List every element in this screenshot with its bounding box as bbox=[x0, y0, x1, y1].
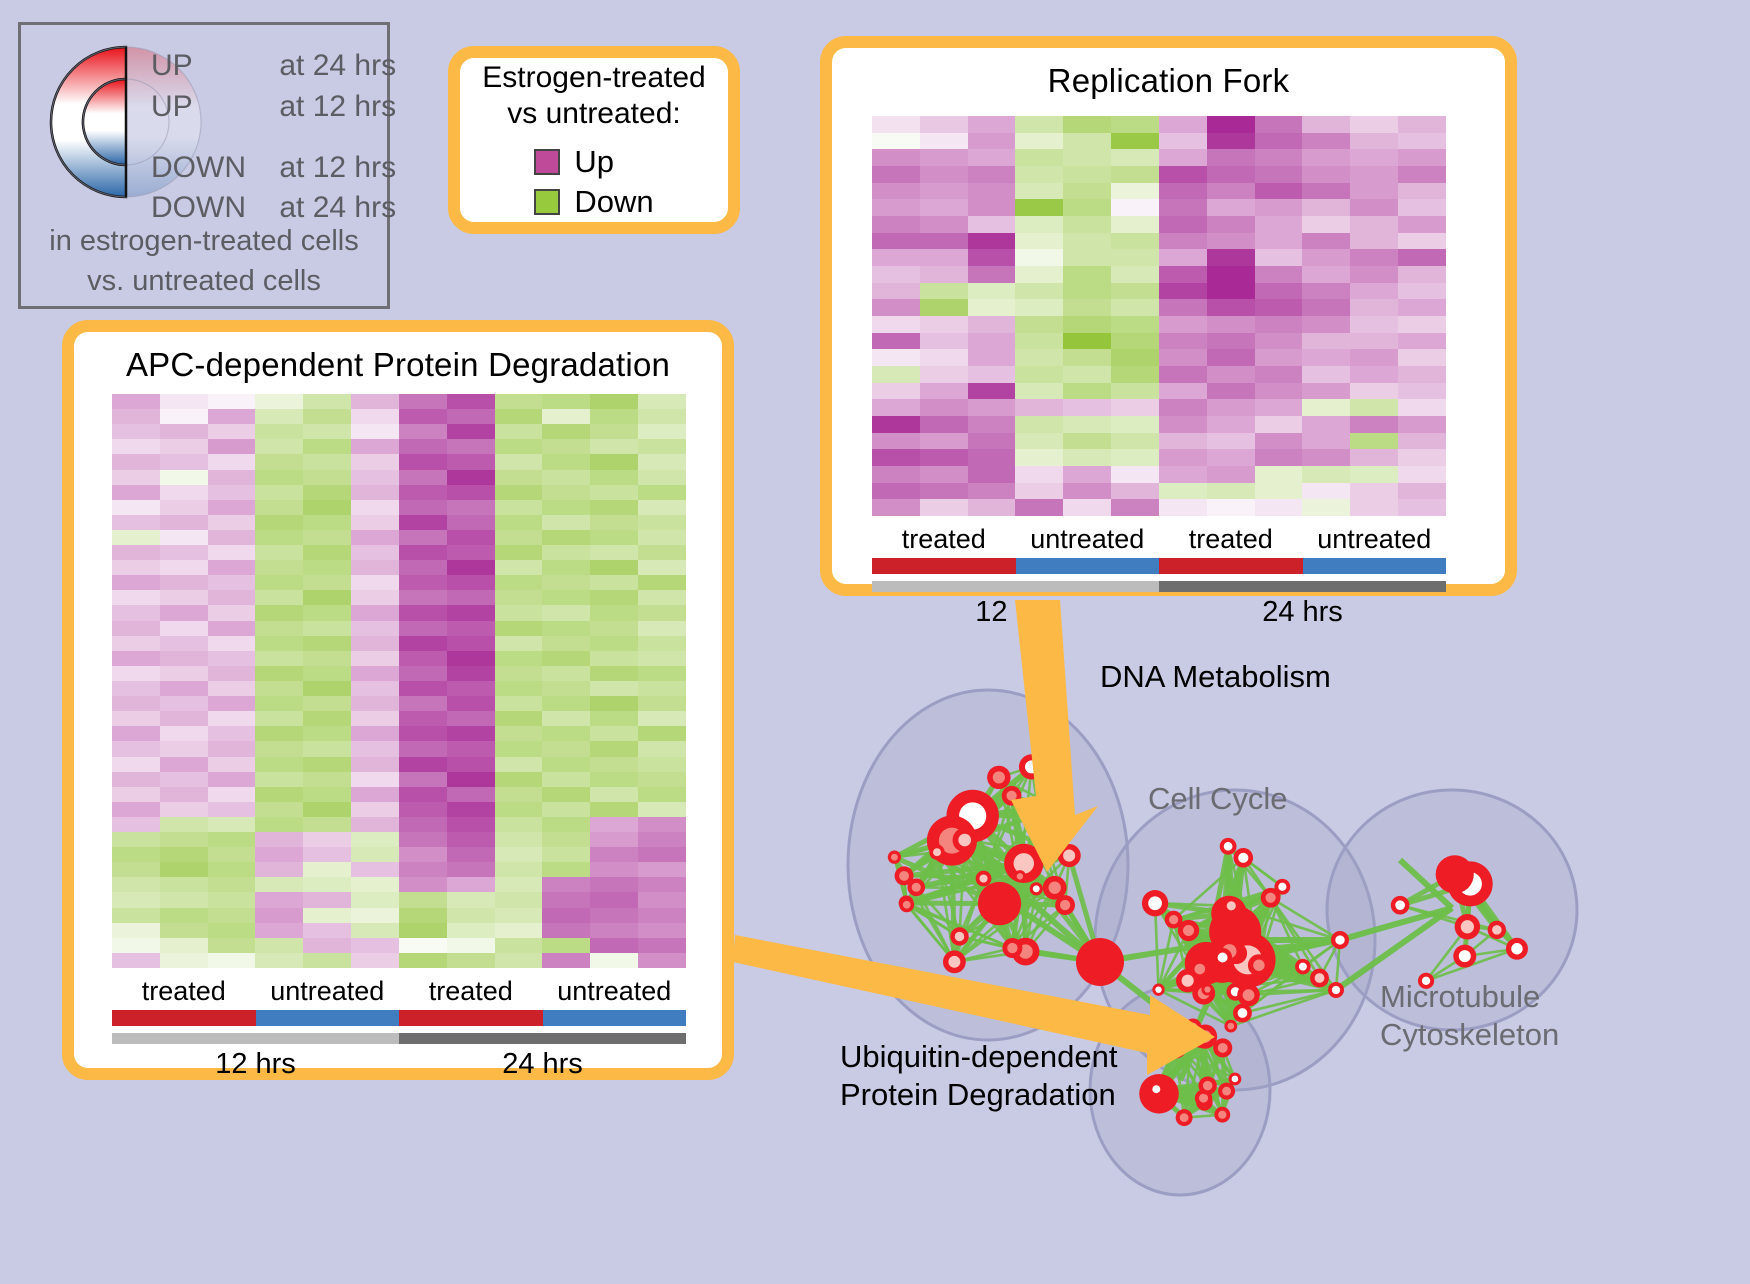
network-node-core bbox=[1155, 986, 1161, 992]
heatmap-cell bbox=[542, 439, 590, 454]
heatmap-cell bbox=[1063, 199, 1111, 216]
heatmap-cell bbox=[1255, 116, 1303, 133]
heatmap-cell bbox=[638, 651, 686, 666]
heatmap-cell bbox=[303, 545, 351, 560]
heatmap-cell bbox=[542, 545, 590, 560]
heatmap-cell bbox=[112, 515, 160, 530]
heatmap-cell bbox=[638, 439, 686, 454]
heatmap-cell bbox=[1350, 366, 1398, 383]
heatmap-cell bbox=[920, 316, 968, 333]
heatmap-cell bbox=[872, 333, 920, 350]
heatmap-cell bbox=[1111, 233, 1159, 250]
heatmap-cell bbox=[638, 621, 686, 636]
heatmap-cell bbox=[638, 394, 686, 409]
heatmap-cell bbox=[1207, 466, 1255, 483]
heatmap-cell bbox=[351, 454, 399, 469]
heatmap-cell bbox=[208, 847, 256, 862]
heatmap-cell bbox=[208, 908, 256, 923]
heatmap-cell bbox=[1015, 299, 1063, 316]
heatmap-cell bbox=[542, 938, 590, 953]
heatmap-cell bbox=[920, 233, 968, 250]
heatmap-cell bbox=[1015, 366, 1063, 383]
heatmap-cell bbox=[638, 953, 686, 968]
heatmap-cell bbox=[255, 515, 303, 530]
heatmap-cell bbox=[255, 953, 303, 968]
heatmap-cell bbox=[968, 399, 1016, 416]
heatmap-cell bbox=[872, 266, 920, 283]
network-node-core bbox=[1034, 810, 1045, 821]
heatmap-cell bbox=[160, 454, 208, 469]
heatmap-cell bbox=[638, 485, 686, 500]
heatmap-cell bbox=[590, 394, 638, 409]
heatmap-cell bbox=[112, 802, 160, 817]
heatmap-cell bbox=[542, 590, 590, 605]
heatmap-cell bbox=[968, 233, 1016, 250]
heatmap-cell bbox=[542, 953, 590, 968]
network-node-core bbox=[1180, 1113, 1189, 1122]
network-node-core bbox=[903, 901, 911, 909]
heatmap-cell bbox=[351, 394, 399, 409]
heatmap-cell bbox=[968, 283, 1016, 300]
time-seg-12hrs bbox=[872, 581, 1159, 592]
heatmap-cell bbox=[399, 424, 447, 439]
heatmap-cell bbox=[255, 908, 303, 923]
heatmap-cell bbox=[112, 621, 160, 636]
heatmap-cell bbox=[160, 485, 208, 500]
heatmap-cell bbox=[208, 424, 256, 439]
heatmap-cell bbox=[638, 560, 686, 575]
heatmap-cell bbox=[399, 500, 447, 515]
heatmap-cell bbox=[303, 877, 351, 892]
heatmap-cell bbox=[255, 409, 303, 424]
heatmap-cell bbox=[1350, 349, 1398, 366]
bar-seg-treated-12 bbox=[112, 1010, 256, 1026]
legend-title-line1: Estrogen-treated bbox=[482, 60, 705, 96]
heatmap-cell bbox=[968, 266, 1016, 283]
heatmap-cell bbox=[351, 545, 399, 560]
heatmap-cell bbox=[112, 590, 160, 605]
heatmap-cell bbox=[1398, 383, 1446, 400]
heatmap-cell bbox=[872, 299, 920, 316]
heatmap-cell bbox=[1398, 166, 1446, 183]
heatmap-cell bbox=[920, 216, 968, 233]
heatmap-cell bbox=[968, 466, 1016, 483]
heatmap-cell bbox=[255, 772, 303, 787]
heatmap-cell bbox=[1159, 283, 1207, 300]
network-node-core bbox=[1050, 801, 1060, 811]
heatmap-cell bbox=[590, 908, 638, 923]
legend-swatch-up-icon bbox=[534, 149, 560, 175]
heatmap-cell bbox=[1111, 266, 1159, 283]
heatmap-cell bbox=[590, 500, 638, 515]
heatmap-cell bbox=[1255, 433, 1303, 450]
heatmap-cell bbox=[1015, 266, 1063, 283]
heatmap-cell bbox=[208, 862, 256, 877]
heatmap-cell bbox=[255, 862, 303, 877]
heatmap-cell bbox=[399, 394, 447, 409]
heatmap-cell bbox=[255, 938, 303, 953]
heatmap-cell bbox=[447, 862, 495, 877]
heatmap-cell bbox=[1302, 399, 1350, 416]
heatmap-cell bbox=[1159, 266, 1207, 283]
heatmap-cell bbox=[160, 394, 208, 409]
heatmap-cell bbox=[447, 726, 495, 741]
heatmap-cell bbox=[399, 787, 447, 802]
heatmap-cell bbox=[1159, 249, 1207, 266]
heatmap-cell bbox=[968, 433, 1016, 450]
heatmap-cell bbox=[1015, 483, 1063, 500]
bar-seg-untreated-24 bbox=[543, 1010, 687, 1026]
legend-item-down: Down bbox=[534, 184, 653, 220]
heatmap-cell bbox=[255, 439, 303, 454]
heatmap-cell bbox=[303, 636, 351, 651]
heatmap-cell bbox=[1302, 383, 1350, 400]
network-node[interactable] bbox=[978, 882, 1021, 925]
heatmap-cell bbox=[351, 605, 399, 620]
heatmap-cell bbox=[1302, 266, 1350, 283]
heatmap-cell bbox=[160, 666, 208, 681]
heatmap-cell bbox=[1015, 433, 1063, 450]
heatmap-cell bbox=[872, 466, 920, 483]
heatmap-cell bbox=[542, 877, 590, 892]
heatmap-cell bbox=[495, 530, 543, 545]
network-node-core bbox=[1227, 1023, 1234, 1030]
heatmap-cell bbox=[399, 621, 447, 636]
group-labels-apc: treated untreated treated untreated bbox=[112, 976, 686, 1007]
heatmap-cell bbox=[208, 500, 256, 515]
heatmap-cell bbox=[920, 283, 968, 300]
heatmap-cell bbox=[968, 483, 1016, 500]
group-labels-replication-fork: treated untreated treated untreated bbox=[872, 524, 1446, 555]
network-node-core bbox=[1461, 920, 1474, 933]
heatmap-cell bbox=[1255, 299, 1303, 316]
heatmap-cell bbox=[208, 530, 256, 545]
heatmap-cell bbox=[160, 938, 208, 953]
time-seg-24hrs bbox=[1159, 581, 1446, 592]
heatmap-cell bbox=[495, 757, 543, 772]
network-node-core bbox=[1492, 925, 1502, 935]
network-node-core bbox=[933, 848, 941, 856]
heatmap-cell bbox=[1302, 233, 1350, 250]
heatmap-cell bbox=[1255, 149, 1303, 166]
heatmap-cell bbox=[160, 530, 208, 545]
heatmap-cell bbox=[351, 741, 399, 756]
heatmap-cell bbox=[1063, 233, 1111, 250]
heatmap-cell bbox=[255, 605, 303, 620]
heatmap-cell bbox=[447, 621, 495, 636]
heatmap-cell bbox=[495, 621, 543, 636]
heatmap-cell bbox=[160, 560, 208, 575]
heatmap-cell bbox=[590, 953, 638, 968]
heatmap-cell bbox=[495, 485, 543, 500]
heatmap-cell bbox=[208, 605, 256, 620]
key-time-down-12: at 12 hrs bbox=[279, 151, 396, 184]
network-node-core bbox=[1169, 915, 1178, 924]
heatmap-cell bbox=[1015, 249, 1063, 266]
heatmap-cell bbox=[1207, 349, 1255, 366]
heatmap-cell bbox=[1350, 399, 1398, 416]
heatmap-cell bbox=[495, 605, 543, 620]
heatmap-cell bbox=[112, 424, 160, 439]
heatmap-cell bbox=[160, 409, 208, 424]
bar-seg-treated-24 bbox=[1159, 558, 1303, 574]
heatmap-cell bbox=[351, 575, 399, 590]
heatmap-cell bbox=[638, 424, 686, 439]
heatmap-replication-fork bbox=[872, 116, 1446, 516]
heatmap-cell bbox=[1207, 433, 1255, 450]
heatmap-cell bbox=[1302, 349, 1350, 366]
heatmap-cell bbox=[590, 590, 638, 605]
network-node-core bbox=[1511, 943, 1522, 954]
network-node-core bbox=[1006, 791, 1016, 801]
heatmap-cell bbox=[638, 923, 686, 938]
heatmap-cell bbox=[590, 711, 638, 726]
heatmap-cell bbox=[160, 681, 208, 696]
heatmap-cell bbox=[1350, 333, 1398, 350]
heatmap-cell bbox=[1255, 133, 1303, 150]
heatmap-cell bbox=[495, 772, 543, 787]
heatmap-cell bbox=[399, 485, 447, 500]
heatmap-cell bbox=[1159, 449, 1207, 466]
heatmap-cell bbox=[447, 530, 495, 545]
heatmap-cell bbox=[495, 726, 543, 741]
heatmap-cell bbox=[495, 545, 543, 560]
heatmap-cell bbox=[968, 416, 1016, 433]
heatmap-cell bbox=[590, 409, 638, 424]
key-label-down-24: DOWN bbox=[151, 191, 271, 225]
heatmap-cell bbox=[1111, 466, 1159, 483]
heatmap-cell bbox=[351, 696, 399, 711]
heatmap-cell bbox=[1159, 499, 1207, 516]
heatmap-cell bbox=[872, 166, 920, 183]
heatmap-cell bbox=[638, 726, 686, 741]
heatmap-cell bbox=[160, 605, 208, 620]
heatmap-cell bbox=[112, 908, 160, 923]
heatmap-cell bbox=[542, 500, 590, 515]
heatmap-cell bbox=[255, 681, 303, 696]
network-node-core bbox=[1299, 963, 1307, 971]
heatmap-cell bbox=[542, 575, 590, 590]
heatmap-cell bbox=[1159, 366, 1207, 383]
heatmap-cell bbox=[542, 485, 590, 500]
heatmap-cell bbox=[542, 757, 590, 772]
heatmap-cell bbox=[112, 500, 160, 515]
network-node[interactable] bbox=[1436, 855, 1474, 893]
heatmap-cell bbox=[638, 741, 686, 756]
heatmap-cell bbox=[399, 923, 447, 938]
heatmap-cell bbox=[447, 772, 495, 787]
panel-apc-dependent-protein-degradation: APC-dependent Protein Degradation treate… bbox=[62, 320, 734, 1080]
heatmap-cell bbox=[1159, 183, 1207, 200]
heatmap-cell bbox=[590, 439, 638, 454]
heatmap-cell bbox=[351, 938, 399, 953]
group-label-treated-24: treated bbox=[1159, 524, 1303, 555]
heatmap-cell bbox=[303, 817, 351, 832]
heatmap-cell bbox=[160, 772, 208, 787]
heatmap-cell bbox=[1063, 166, 1111, 183]
heatmap-cell bbox=[160, 470, 208, 485]
heatmap-cell bbox=[351, 877, 399, 892]
heatmap-cell bbox=[1302, 133, 1350, 150]
heatmap-cell bbox=[638, 696, 686, 711]
heatmap-cell bbox=[303, 470, 351, 485]
heatmap-cell bbox=[1207, 249, 1255, 266]
heatmap-cell bbox=[112, 757, 160, 772]
heatmap-cell bbox=[447, 847, 495, 862]
heatmap-cell bbox=[1398, 483, 1446, 500]
heatmap-cell bbox=[968, 249, 1016, 266]
heatmap-cell bbox=[1207, 499, 1255, 516]
network-node-core bbox=[1182, 975, 1194, 987]
heatmap-cell bbox=[399, 530, 447, 545]
heatmap-cell bbox=[590, 454, 638, 469]
heatmap-cell bbox=[399, 953, 447, 968]
heatmap-cell bbox=[1350, 233, 1398, 250]
heatmap-cell bbox=[968, 199, 1016, 216]
heatmap-cell bbox=[872, 199, 920, 216]
heatmap-cell bbox=[303, 787, 351, 802]
heatmap-cell bbox=[112, 787, 160, 802]
heatmap-cell bbox=[1398, 133, 1446, 150]
heatmap-cell bbox=[112, 575, 160, 590]
heatmap-cell bbox=[1350, 216, 1398, 233]
heatmap-cell bbox=[303, 923, 351, 938]
heatmap-cell bbox=[447, 696, 495, 711]
heatmap-cell bbox=[1398, 183, 1446, 200]
heatmap-cell bbox=[208, 651, 256, 666]
heatmap-cell bbox=[112, 847, 160, 862]
network-node-core bbox=[1238, 853, 1248, 863]
heatmap-cell bbox=[303, 560, 351, 575]
heatmap-cell bbox=[255, 575, 303, 590]
heatmap-cell bbox=[255, 923, 303, 938]
heatmap-cell bbox=[638, 636, 686, 651]
heatmap-cell bbox=[590, 424, 638, 439]
heatmap-cell bbox=[1111, 449, 1159, 466]
heatmap-cell bbox=[590, 772, 638, 787]
cluster-label-microtubule-cytoskeleton: Microtubule Cytoskeleton bbox=[1380, 978, 1559, 1054]
network-node[interactable] bbox=[1076, 938, 1124, 986]
heatmap-cell bbox=[399, 832, 447, 847]
heatmap-cell bbox=[968, 449, 1016, 466]
heatmap-cell bbox=[1159, 383, 1207, 400]
heatmap-cell bbox=[208, 757, 256, 772]
heatmap-cell bbox=[303, 953, 351, 968]
heatmap-cell bbox=[1350, 466, 1398, 483]
heatmap-cell bbox=[208, 817, 256, 832]
heatmap-cell bbox=[495, 953, 543, 968]
heatmap-cell bbox=[542, 636, 590, 651]
heatmap-cell bbox=[1302, 183, 1350, 200]
heatmap-cell bbox=[1255, 183, 1303, 200]
network-node-core bbox=[899, 871, 909, 881]
network-node-core bbox=[1017, 873, 1023, 879]
group-label-treated-12: treated bbox=[112, 976, 256, 1007]
heatmap-cell bbox=[638, 590, 686, 605]
heatmap-cell bbox=[447, 832, 495, 847]
heatmap-cell bbox=[1255, 349, 1303, 366]
heatmap-cell bbox=[920, 433, 968, 450]
heatmap-cell bbox=[351, 772, 399, 787]
heatmap-cell bbox=[447, 500, 495, 515]
heatmap-cell bbox=[112, 439, 160, 454]
heatmap-cell bbox=[255, 394, 303, 409]
heatmap-cell bbox=[160, 923, 208, 938]
heatmap-cell bbox=[1015, 199, 1063, 216]
bar-seg-untreated-12 bbox=[1016, 558, 1160, 574]
heatmap-cell bbox=[1063, 349, 1111, 366]
heatmap-cell bbox=[399, 636, 447, 651]
heatmap-cell bbox=[112, 605, 160, 620]
heatmap-cell bbox=[1063, 399, 1111, 416]
heatmap-cell bbox=[1398, 149, 1446, 166]
heatmap-cell bbox=[590, 923, 638, 938]
heatmap-cell bbox=[255, 621, 303, 636]
heatmap-cell bbox=[920, 116, 968, 133]
heatmap-cell bbox=[1302, 433, 1350, 450]
heatmap-cell bbox=[1302, 283, 1350, 300]
heatmap-cell bbox=[590, 560, 638, 575]
heatmap-cell bbox=[1207, 333, 1255, 350]
heatmap-cell bbox=[590, 575, 638, 590]
heatmap-cell bbox=[399, 681, 447, 696]
time-label-12hrs: 12 hrs bbox=[112, 1048, 399, 1081]
network-node-core bbox=[993, 771, 1005, 783]
heatmap-cell bbox=[1159, 299, 1207, 316]
heatmap-cell bbox=[1207, 449, 1255, 466]
heatmap-cell bbox=[495, 696, 543, 711]
heatmap-cell bbox=[1063, 466, 1111, 483]
heatmap-cell bbox=[1398, 249, 1446, 266]
heatmap-cell bbox=[1350, 116, 1398, 133]
heatmap-cell bbox=[920, 299, 968, 316]
heatmap-cell bbox=[447, 711, 495, 726]
heatmap-cell bbox=[872, 399, 920, 416]
heatmap-cell bbox=[255, 892, 303, 907]
heatmap-cell bbox=[1159, 149, 1207, 166]
heatmap-cell bbox=[399, 862, 447, 877]
heatmap-cell bbox=[590, 802, 638, 817]
heatmap-cell bbox=[542, 454, 590, 469]
network-node-core bbox=[1335, 935, 1344, 944]
heatmap-cell bbox=[447, 817, 495, 832]
heatmap-cell bbox=[255, 485, 303, 500]
heatmap-cell bbox=[208, 515, 256, 530]
heatmap-cell bbox=[447, 545, 495, 560]
heatmap-cell bbox=[160, 817, 208, 832]
heatmap-cell bbox=[1350, 283, 1398, 300]
heatmap-cell bbox=[112, 726, 160, 741]
heatmap-cell bbox=[920, 416, 968, 433]
heatmap-cell bbox=[1159, 199, 1207, 216]
heatmap-cell bbox=[1398, 433, 1446, 450]
heatmap-apc bbox=[112, 394, 686, 968]
heatmap-cell bbox=[303, 621, 351, 636]
heatmap-cell bbox=[447, 802, 495, 817]
heatmap-cell bbox=[399, 847, 447, 862]
network-node-core bbox=[912, 883, 921, 892]
heatmap-cell bbox=[447, 636, 495, 651]
heatmap-cell bbox=[1398, 366, 1446, 383]
heatmap-cell bbox=[872, 183, 920, 200]
heatmap-cell bbox=[160, 802, 208, 817]
heatmap-cell bbox=[1207, 133, 1255, 150]
heatmap-cell bbox=[638, 530, 686, 545]
heatmap-cell bbox=[872, 116, 920, 133]
heatmap-cell bbox=[399, 726, 447, 741]
heatmap-cell bbox=[1159, 233, 1207, 250]
heatmap-cell bbox=[638, 772, 686, 787]
